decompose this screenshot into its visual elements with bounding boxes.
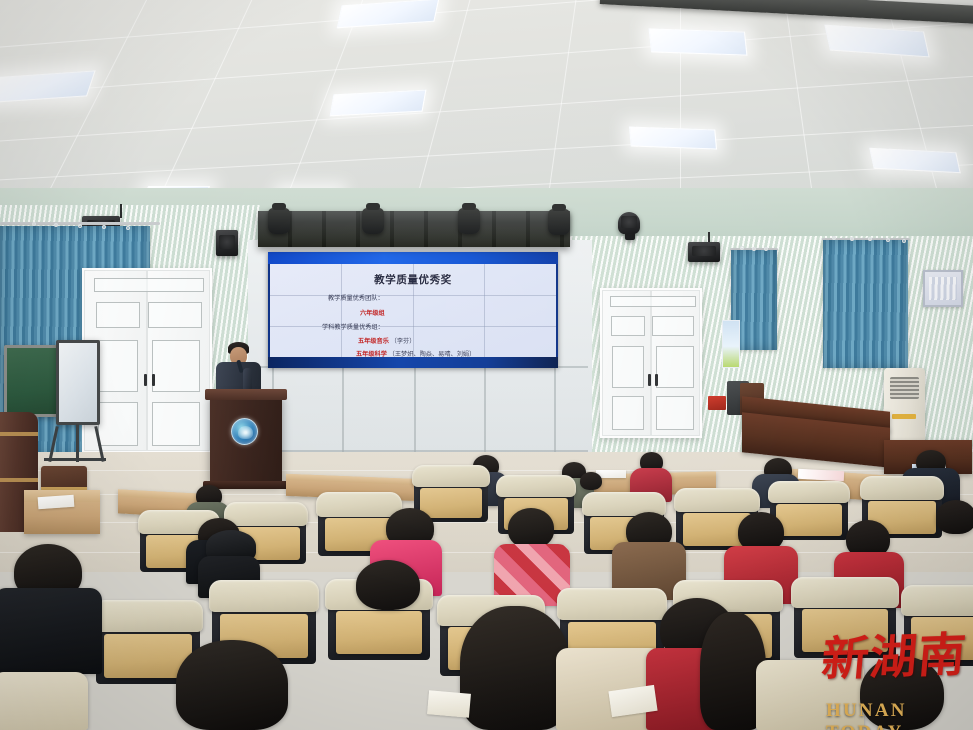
- slide-line-2: 六年级组: [360, 308, 385, 317]
- led-video-wall[interactable]: 教学质量优秀奖 教学质量优秀团队： 六年级组 学科教学质量优秀组： 五年级音乐 …: [268, 252, 558, 368]
- slide-title: 教学质量优秀奖: [270, 272, 556, 287]
- paper-sheet: [38, 495, 75, 509]
- board-stand-base: [44, 458, 106, 461]
- notebook-open: [427, 690, 471, 718]
- wall-poster-small: [722, 320, 740, 368]
- audience-head-ponytail: [176, 640, 288, 730]
- door-handle[interactable]: [648, 374, 651, 386]
- audience-head: [356, 560, 420, 610]
- curtain-window-2[interactable]: [823, 240, 908, 368]
- school-crest-emblem: [231, 418, 258, 445]
- auditorium-seat[interactable]: [794, 584, 896, 658]
- door-right[interactable]: [600, 288, 702, 438]
- led-bottom-border: [268, 357, 558, 368]
- audience-head-longhair: [860, 656, 944, 730]
- interactive-display-board[interactable]: [56, 340, 100, 425]
- led-top-border: [268, 252, 558, 264]
- door-handle[interactable]: [152, 374, 155, 386]
- ceiling-light-panel: [629, 127, 717, 150]
- stage-light: [458, 208, 480, 234]
- slide-line-4: 五年级音乐 （李芬）: [358, 336, 415, 345]
- brown-storage-box: [41, 466, 87, 492]
- slide-line-4-paren: （李芬）: [391, 338, 416, 345]
- slide-line-4-name: 五年级音乐: [358, 338, 389, 345]
- door-left[interactable]: [82, 268, 212, 453]
- slide-line-5-name: 五年级科学: [356, 351, 387, 358]
- ac-vent-grille: [890, 377, 919, 399]
- ceiling-light-panel: [824, 25, 929, 58]
- slide-line-5-paren: （王梦妍、陶焱、易晴、刘娟）: [389, 351, 476, 358]
- ceiling-light-panel: [649, 28, 748, 55]
- stage-spotlight-housing: [618, 212, 640, 234]
- audience-head: [508, 508, 554, 548]
- audience-torso-black: [0, 588, 102, 674]
- ceiling-light-panel: [337, 0, 440, 28]
- auditorium-seat[interactable]: [904, 592, 973, 666]
- stage-light: [268, 208, 290, 234]
- lighting-truss: [258, 211, 570, 247]
- stage-light: [548, 209, 570, 235]
- slide-surface: 教学质量优秀奖 教学质量优秀团队： 六年级组 学科教学质量优秀组： 五年级音乐 …: [270, 264, 556, 357]
- door-handle[interactable]: [144, 374, 147, 386]
- red-crate: [708, 396, 726, 410]
- speaker-mount-bracket: [708, 232, 710, 242]
- audience-head: [580, 472, 602, 490]
- wall-speaker: [216, 230, 238, 256]
- audience-head-longhair: [460, 606, 570, 730]
- stage-light: [362, 208, 384, 234]
- audience-torso-cream-left: [0, 672, 88, 730]
- audience-head: [936, 500, 973, 534]
- speaker-mount-bracket: [120, 204, 122, 218]
- slide-line-1: 教学质量优秀团队：: [328, 293, 384, 302]
- slide-line-3: 学科教学质量优秀组：: [322, 322, 384, 331]
- podium-top-surface: [205, 389, 287, 400]
- wall-poster-framed: [923, 270, 963, 307]
- door-handle[interactable]: [655, 374, 658, 386]
- ceiling: [0, 0, 973, 196]
- wall-speaker: [688, 242, 720, 262]
- photo-scene: 教学质量优秀奖 教学质量优秀团队： 六年级组 学科教学质量优秀组： 五年级音乐 …: [0, 0, 973, 730]
- slide-line-5: 五年级科学 （王梦妍、陶焱、易晴、刘娟）: [356, 349, 475, 358]
- board-stand-leg: [76, 424, 79, 462]
- podium: [210, 394, 282, 484]
- ceiling-light-panel: [0, 70, 96, 103]
- ac-label-sticker: [892, 414, 916, 419]
- audience-torso-cream-right: [756, 660, 864, 730]
